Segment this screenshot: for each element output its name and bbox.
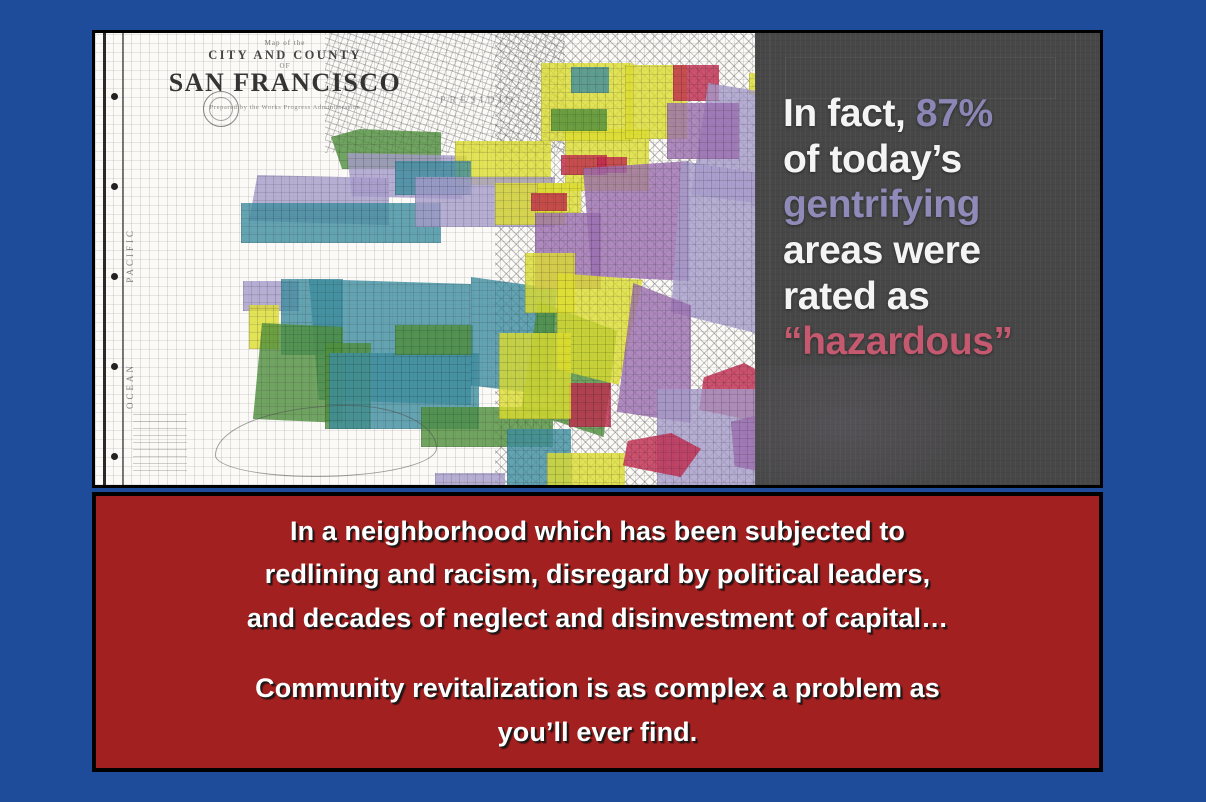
quote-line-5: rated as — [783, 274, 1100, 320]
quote-word-hazardous: “hazardous” — [783, 319, 1100, 365]
caption-paragraph-2: Community revitalization is as complex a… — [96, 667, 1099, 754]
caption-p1-line-2: redlining and racism, disregard by polit… — [96, 553, 1099, 597]
quote-panel-ghost-blur — [755, 365, 985, 485]
map-title-main: SAN FRANCISCO — [135, 68, 435, 98]
map-margin-tick — [111, 183, 118, 190]
figure-image: Map of the CITY AND COUNTY OF SAN FRANCI… — [92, 30, 1103, 488]
map-title-cartouche: Map of the CITY AND COUNTY OF SAN FRANCI… — [135, 39, 435, 112]
map-legend — [133, 413, 187, 471]
map-zone-a-4 — [395, 325, 473, 355]
quote-line-1: In fact, 87% — [783, 91, 1100, 137]
caption-paragraph-1: In a neighborhood which has been subject… — [96, 510, 1099, 641]
map-title-small: Map of the — [135, 39, 435, 47]
map-zone-purple-1 — [667, 103, 739, 159]
map-zone-b-8 — [571, 67, 609, 93]
quote-line-1-pre: In fact, — [783, 92, 916, 135]
slide-canvas: Map of the CITY AND COUNTY OF SAN FRANCI… — [0, 0, 1206, 802]
map-label-pacific: PACIFIC — [125, 228, 135, 283]
quote-word-gentrifying: gentrifying — [783, 182, 1100, 228]
map-zone-c-5 — [547, 453, 625, 485]
map-zone-a-7 — [551, 109, 607, 131]
map-zone-c-12 — [499, 333, 571, 419]
map-margin-tick — [111, 453, 118, 460]
map-zone-b-2 — [241, 203, 441, 243]
map-zone-d-4 — [531, 193, 567, 211]
quote-line-2: of today’s — [783, 137, 1100, 183]
quote-line-4: areas were — [783, 228, 1100, 274]
map-label-ocean: OCEAN — [125, 363, 135, 409]
caption-p1-line-1: In a neighborhood which has been subject… — [96, 510, 1099, 554]
caption-p1-line-3: and decades of neglect and disinvestment… — [96, 597, 1099, 641]
map-sheet-edge — [103, 33, 106, 485]
map-zone-overlay-5 — [435, 473, 505, 485]
map-margin-tick — [111, 273, 118, 280]
caption-p2-line-2: you’ll ever find. — [96, 711, 1099, 755]
map-title-sub: Prepared by the Works Progress Administr… — [135, 104, 435, 111]
map-title-mid: CITY AND COUNTY — [135, 48, 435, 62]
map-margin-tick — [111, 363, 118, 370]
quote-panel: In fact, 87% of today’s gentrifying area… — [755, 33, 1100, 485]
caption-p2-line-1: Community revitalization is as complex a… — [96, 667, 1099, 711]
map-zone-d-8 — [569, 383, 611, 427]
holc-redlining-map: Map of the CITY AND COUNTY OF SAN FRANCI… — [95, 33, 755, 485]
map-label-presidio: PRESIDIO — [440, 95, 517, 106]
quote-stat-87-percent: 87% — [916, 92, 993, 135]
map-sheet-edge-inner — [122, 33, 124, 485]
caption-box: In a neighborhood which has been subject… — [92, 492, 1103, 772]
map-seal-icon — [203, 91, 239, 127]
map-margin-tick — [111, 93, 118, 100]
quote-text: In fact, 87% of today’s gentrifying area… — [755, 33, 1100, 365]
